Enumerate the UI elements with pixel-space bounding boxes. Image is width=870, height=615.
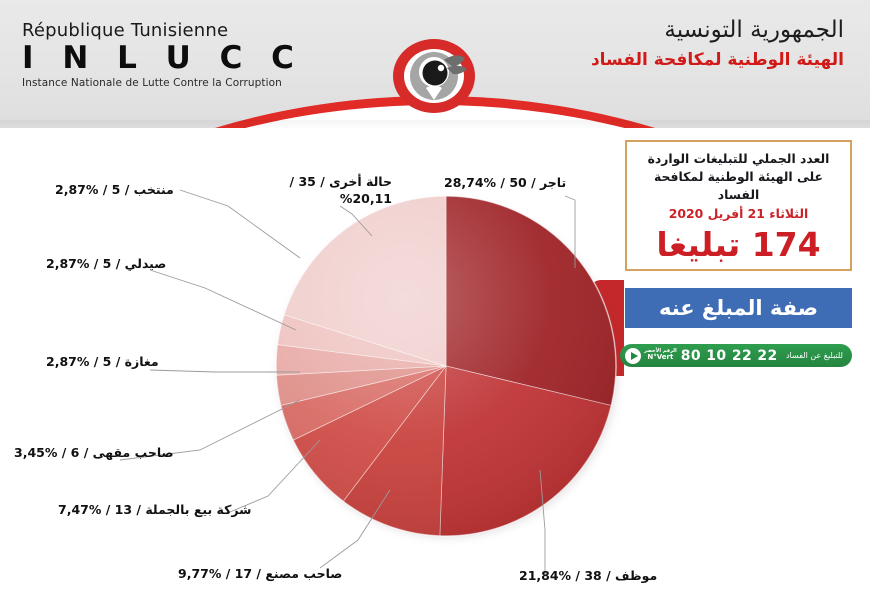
- arabic-header-block: الجمهورية التونسية الهيئة الوطنية لمكافح…: [591, 16, 844, 70]
- play-icon[interactable]: [625, 348, 641, 364]
- label-maghaza: مغازة / 5 / %2,87: [46, 354, 159, 369]
- slide-canvas: République Tunisienne I N L U C C Instan…: [0, 0, 870, 615]
- info-box-date: الثلاثاء 21 أفريل 2020: [635, 206, 842, 221]
- pie-chart: [274, 194, 618, 538]
- hotline-number: 80 10 22 22: [681, 348, 778, 364]
- label-saydali: صيدلي / 5 / %2,87: [46, 256, 166, 271]
- arabic-republic-title: الجمهورية التونسية: [591, 16, 844, 45]
- arabic-authority-title: الهيئة الوطنية لمكافحة الفساد: [591, 50, 844, 70]
- pie-svg: [274, 194, 618, 538]
- label-charika-jomla: شركة بيع بالجملة / 13 / %7,47: [58, 502, 251, 517]
- label-tajer: تاجر / 50 / %28,74: [444, 175, 566, 190]
- chart-title-button[interactable]: صفة المبلغ عنه: [625, 288, 852, 328]
- label-mouwadhaf: موظف / 38 / %21,84: [519, 568, 657, 583]
- eye-logo-icon: [392, 38, 476, 114]
- label-halat-okhra: حالة أخرى / 35 / %20,11: [272, 174, 392, 208]
- hotline-bar[interactable]: الرقم الأخضر N°Vert 80 10 22 22 للتبليغ …: [620, 344, 852, 367]
- info-box-title: العدد الجملي للتبليغات الواردة على الهيئ…: [635, 150, 842, 204]
- label-sahib-maqha: صاحب مقهى / 6 / %3,45: [14, 445, 174, 460]
- logo-republic-line: République Tunisienne: [22, 20, 303, 41]
- logo-tagline: Instance Nationale de Lutte Contre la Co…: [22, 77, 303, 89]
- logo-acronym: I N L U C C: [22, 42, 303, 75]
- label-montakhab: منتخب / 5 / %2,87: [55, 182, 174, 197]
- hotline-tagline: للتبليغ عن الفساد: [786, 351, 843, 360]
- label-halat-okhra-line2: %20,11: [340, 191, 392, 208]
- nvert-label: الرقم الأخضر N°Vert: [644, 349, 677, 362]
- total-reports-box: العدد الجملي للتبليغات الواردة على الهيئ…: [625, 140, 852, 271]
- info-box-total: 174 تبليغا: [635, 227, 842, 263]
- label-sahib-masnaa: صاحب مصنع / 17 / %9,77: [178, 566, 342, 581]
- nvert-latin-label: N°Vert: [647, 353, 673, 361]
- pie-slices: [276, 196, 616, 536]
- inlucc-logo: République Tunisienne I N L U C C Instan…: [22, 20, 303, 89]
- label-halat-okhra-line1: حالة أخرى / 35 /: [272, 174, 392, 191]
